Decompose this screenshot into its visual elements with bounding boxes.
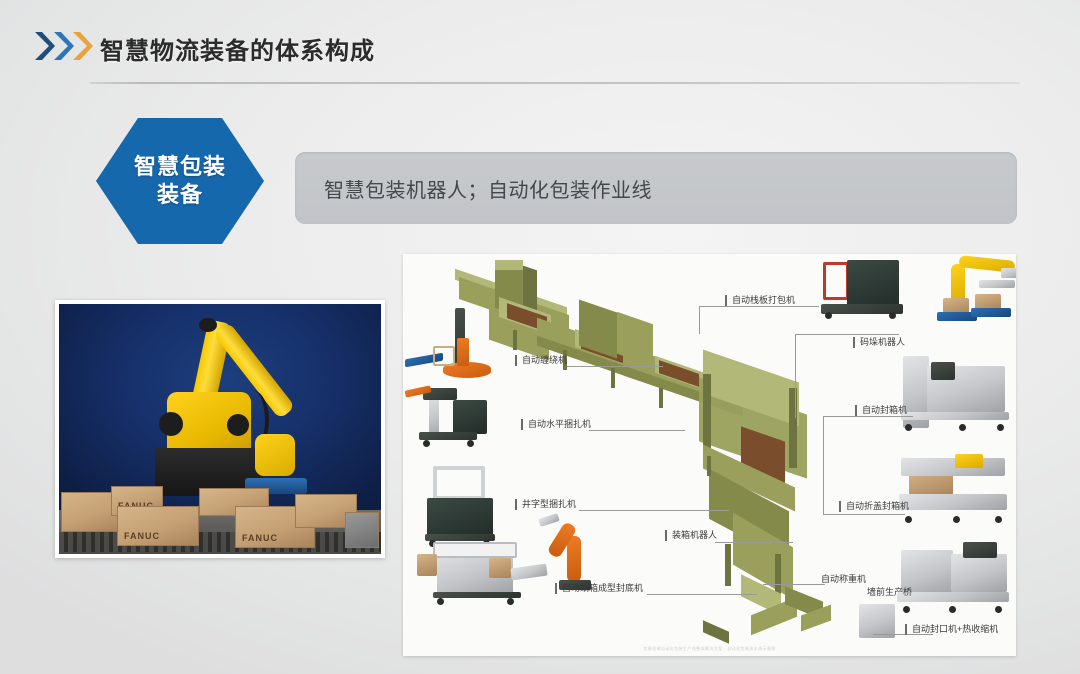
thumb-control-cabinet (859, 604, 895, 638)
thumb-former-outfeed (510, 564, 547, 581)
leader-line (795, 334, 797, 418)
chevron-group (33, 30, 95, 62)
wheel (825, 312, 832, 319)
support-leg (513, 330, 517, 350)
thumb-folding-conveyor (899, 494, 1007, 510)
leader-line (699, 306, 701, 334)
category-hexagon: 智慧包装 装备 (96, 118, 264, 244)
thumb-pallet-strapper-body (847, 260, 899, 308)
support-leg (659, 388, 663, 408)
thumb-shrink-head (963, 542, 997, 558)
robot-joint-right (227, 414, 249, 436)
wheel (437, 598, 444, 605)
wheel (903, 606, 910, 613)
thumb-carton-blank (417, 554, 437, 576)
diagram-label-flap-folding-sealer: 自动折盖封箱机 (839, 501, 909, 512)
thumb-shrink-base (897, 592, 1009, 602)
thumb-former-frame (433, 542, 517, 558)
leader-line (715, 542, 793, 544)
description-panel: 智慧包装机器人；自动化包装作业线 (295, 152, 1017, 224)
robot-joint-left (159, 412, 183, 436)
wheel (889, 312, 896, 319)
leader-line (579, 510, 729, 512)
diagram-label-auto-wrapper: 自动缠绕机 (515, 355, 567, 366)
fanuc-robot-photo: FANUC FANUC FANUC (55, 300, 385, 558)
wheel (959, 424, 966, 431)
thumb-folding-arm (955, 454, 983, 468)
thumb-cross-strapper-arch (433, 466, 485, 500)
thumb-strapper-base (419, 432, 477, 440)
leader-line (823, 514, 905, 516)
wheel (953, 516, 960, 523)
packaging-line-diagram: 自动缠绕机 自动水平捆扎机 井字型捆扎机 自动纸箱成型封底机 装箱机器人 自动栈… (403, 254, 1016, 656)
wheel (507, 598, 514, 605)
page-title: 智慧物流装备的体系构成 (100, 31, 375, 66)
robot-wrist (255, 434, 295, 476)
diagram-label-palletizing-robot: 码垛机器人 (853, 337, 905, 348)
thumb-packing-robot-arm (567, 536, 581, 582)
leader-line (589, 430, 685, 432)
wheel (949, 606, 956, 613)
thumb-sealer-head (931, 362, 955, 380)
wheel (467, 440, 474, 447)
title-divider (90, 82, 1020, 84)
support-leg (707, 456, 711, 476)
thumb-cross-strapper-body (427, 498, 493, 536)
slide-header: 智慧物流装备的体系构成 (0, 0, 1080, 88)
wheel (997, 424, 1004, 431)
diagram-label-sealer-shrink: 自动封口机+热收缩机 (905, 624, 998, 635)
leader-line (823, 416, 913, 418)
thumb-outfeed-conveyor (979, 280, 1015, 288)
diagram-label-cross-strapper: 井字型捆扎机 (515, 499, 576, 510)
support-leg (775, 554, 781, 596)
leader-line (763, 584, 825, 586)
crate-box (345, 512, 379, 548)
chute (703, 620, 729, 644)
leader-line (699, 306, 819, 308)
leader-line (647, 594, 757, 596)
thumb-carton-output (489, 558, 511, 578)
robot-joint-top (199, 318, 217, 332)
support-leg (725, 544, 731, 586)
diagram-label-case-packing-robot: 装箱机器人 (665, 530, 717, 541)
thumb-sealer-base (901, 412, 1009, 420)
diagram-label-pallet-strapper: 自动栈板打包机 (725, 295, 795, 306)
wheel (905, 424, 912, 431)
box-brand-label: FANUC (242, 533, 278, 543)
thumb-folding-head (901, 458, 1005, 476)
leader-line (823, 416, 825, 514)
thumb-packing-robot-gripper (538, 513, 559, 527)
thumb-wrapper-carriage (457, 338, 469, 366)
hexagon-label-line2: 装备 (157, 181, 203, 209)
wheel (995, 516, 1002, 523)
thumb-pallet-strapper-arch (823, 262, 849, 300)
wheel (905, 516, 912, 523)
diagram-label-carton-sealer: 自动封箱机 (855, 405, 907, 416)
thumb-shrink-tunnel (951, 554, 1007, 592)
diagram-watermark: 包装机械自动化包装生产线整体解决方案 · 自动化包装流水线示意图 (643, 646, 775, 652)
machine-column (703, 374, 711, 454)
diagram-label-auto-weigher: 自动称重机 (821, 574, 866, 585)
thumb-wrapped-pallet (433, 346, 455, 366)
photo-conveyor (59, 532, 381, 552)
box-brand-label: FANUC (124, 531, 160, 541)
thumb-former-base (433, 592, 521, 598)
thumb-blue-pallet (971, 308, 1011, 317)
wheel (423, 440, 430, 447)
hexagon-shape: 智慧包装 装备 (96, 118, 264, 244)
leader-line (567, 366, 663, 368)
diagram-label-auto-h-strapper: 自动水平捆扎机 (521, 419, 591, 430)
hexagon-label-line1: 智慧包装 (134, 153, 226, 181)
photo-canvas: FANUC FANUC FANUC (59, 304, 381, 554)
description-text: 智慧包装机器人；自动化包装作业线 (295, 174, 652, 203)
thumb-palletizer-gripper (1001, 268, 1016, 278)
thumb-h-strapper-body (453, 400, 487, 434)
support-leg (611, 368, 615, 388)
leader-line (795, 334, 899, 336)
wheel (995, 606, 1002, 613)
diagram-label-carton-former: 自动纸箱成型封底机 (555, 583, 643, 594)
slide: 智慧物流装备的体系构成 智慧包装 装备 智慧包装机器人；自动化包装作业线 (0, 0, 1080, 674)
chevron-right-icon-3 (71, 30, 93, 62)
lift-top (495, 260, 523, 270)
carton-box: FANUC (117, 506, 199, 546)
diagram-label-pre-wall-line: 墙前生产桥 (867, 587, 912, 598)
